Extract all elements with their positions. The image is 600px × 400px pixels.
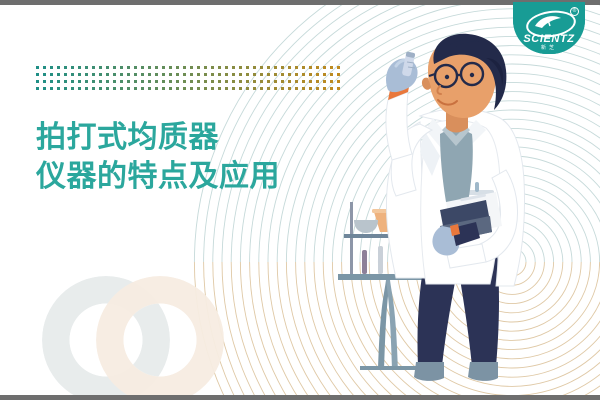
dot xyxy=(57,80,60,83)
dot xyxy=(134,66,137,69)
dot xyxy=(204,80,207,83)
dot xyxy=(183,66,186,69)
dot xyxy=(225,87,228,90)
dot xyxy=(85,87,88,90)
scientist-character xyxy=(386,34,525,381)
dot xyxy=(190,87,193,90)
title-line-1: 拍打式均质器 xyxy=(36,118,280,157)
dot xyxy=(295,73,298,76)
dot xyxy=(295,66,298,69)
dot xyxy=(141,87,144,90)
dot xyxy=(232,80,235,83)
dot xyxy=(176,66,179,69)
dot xyxy=(232,66,235,69)
dot xyxy=(267,66,270,69)
dot xyxy=(92,87,95,90)
dot xyxy=(106,87,109,90)
dot xyxy=(127,87,130,90)
dot-grid-row xyxy=(36,87,344,94)
dot xyxy=(36,80,39,83)
dot xyxy=(190,66,193,69)
dot xyxy=(176,73,179,76)
dot xyxy=(281,80,284,83)
dot xyxy=(239,80,242,83)
dot xyxy=(92,73,95,76)
dot xyxy=(127,80,130,83)
dot xyxy=(211,80,214,83)
dot xyxy=(176,87,179,90)
dot xyxy=(267,73,270,76)
dot xyxy=(106,73,109,76)
dot xyxy=(253,66,256,69)
ring-shape-decoration-warm xyxy=(96,276,224,400)
dot xyxy=(218,80,221,83)
dot xyxy=(155,66,158,69)
inner-shirt xyxy=(440,126,473,202)
dot xyxy=(92,80,95,83)
poster-canvas: 拍打式均质器 仪器的特点及应用 xyxy=(0,0,600,400)
bottom-edge-bar xyxy=(0,395,600,400)
dot xyxy=(169,80,172,83)
dot xyxy=(57,73,60,76)
dot xyxy=(120,87,123,90)
dot xyxy=(253,73,256,76)
dot-grid-decoration xyxy=(36,66,344,94)
dot xyxy=(260,66,263,69)
dot-grid-row xyxy=(36,73,344,80)
dot xyxy=(288,73,291,76)
dot xyxy=(57,66,60,69)
dot xyxy=(225,80,228,83)
page-title: 拍打式均质器 仪器的特点及应用 xyxy=(36,118,280,196)
dot xyxy=(64,66,67,69)
dot xyxy=(204,73,207,76)
dot xyxy=(204,87,207,90)
dot xyxy=(134,80,137,83)
dot xyxy=(43,80,46,83)
dot xyxy=(197,80,200,83)
dot xyxy=(246,80,249,83)
dot xyxy=(288,87,291,90)
logo-swoosh-icon xyxy=(533,13,563,31)
dot xyxy=(176,80,179,83)
dot xyxy=(218,87,221,90)
dot xyxy=(274,80,277,83)
dot xyxy=(148,87,151,90)
dot xyxy=(141,66,144,69)
dot xyxy=(71,80,74,83)
dot xyxy=(281,73,284,76)
dot xyxy=(169,87,172,90)
dot xyxy=(211,73,214,76)
dot xyxy=(162,73,165,76)
dot xyxy=(155,80,158,83)
dot xyxy=(106,80,109,83)
dot xyxy=(78,73,81,76)
dot xyxy=(274,66,277,69)
dot xyxy=(155,73,158,76)
dot xyxy=(204,66,207,69)
dot xyxy=(141,73,144,76)
dot xyxy=(190,73,193,76)
dot xyxy=(295,80,298,83)
dot xyxy=(57,87,60,90)
title-line-2: 仪器的特点及应用 xyxy=(36,157,280,196)
shelf-bowl xyxy=(354,220,378,233)
dot xyxy=(78,80,81,83)
dot xyxy=(253,87,256,90)
registered-trademark-icon: ® xyxy=(570,7,579,16)
dot xyxy=(127,73,130,76)
dot xyxy=(134,87,137,90)
dot xyxy=(99,66,102,69)
dot xyxy=(169,66,172,69)
dot xyxy=(113,66,116,69)
dot xyxy=(162,80,165,83)
dot xyxy=(155,87,158,90)
dot xyxy=(120,80,123,83)
dot xyxy=(218,73,221,76)
dot xyxy=(267,87,270,90)
dot xyxy=(85,73,88,76)
dot xyxy=(113,80,116,83)
dot xyxy=(197,73,200,76)
dot xyxy=(78,87,81,90)
dot xyxy=(99,80,102,83)
dot xyxy=(71,73,74,76)
dot xyxy=(43,66,46,69)
dot xyxy=(246,87,249,90)
dot xyxy=(113,73,116,76)
dot xyxy=(148,66,151,69)
dot xyxy=(183,80,186,83)
dot xyxy=(92,66,95,69)
dot xyxy=(239,87,242,90)
dot xyxy=(162,87,165,90)
dot xyxy=(71,87,74,90)
dot-grid-row xyxy=(36,66,344,73)
dot xyxy=(148,80,151,83)
scientz-logo[interactable]: ® SCIENTZ 新芝 xyxy=(513,2,585,54)
dot xyxy=(120,73,123,76)
dot xyxy=(288,66,291,69)
dot xyxy=(71,66,74,69)
dot xyxy=(295,87,298,90)
dot xyxy=(274,87,277,90)
dot xyxy=(141,80,144,83)
dot xyxy=(85,66,88,69)
dot xyxy=(183,87,186,90)
dot xyxy=(120,66,123,69)
dot xyxy=(36,87,39,90)
dot xyxy=(36,73,39,76)
dot xyxy=(78,66,81,69)
dot xyxy=(36,66,39,69)
dot xyxy=(99,87,102,90)
dot xyxy=(64,87,67,90)
dot xyxy=(43,73,46,76)
dot xyxy=(50,87,53,90)
dot xyxy=(162,66,165,69)
dot xyxy=(134,73,137,76)
scientist-illustration xyxy=(300,30,600,400)
dot xyxy=(232,87,235,90)
dot xyxy=(43,87,46,90)
dot xyxy=(113,87,116,90)
dot-grid-row xyxy=(36,80,344,87)
logo-chinese-mark: 新芝 xyxy=(513,44,585,51)
dot xyxy=(127,66,130,69)
dot xyxy=(99,73,102,76)
dot xyxy=(274,73,277,76)
dot xyxy=(225,73,228,76)
dot xyxy=(64,80,67,83)
dot xyxy=(85,80,88,83)
dot xyxy=(232,73,235,76)
dot xyxy=(106,66,109,69)
dot xyxy=(253,80,256,83)
dot xyxy=(288,80,291,83)
dot xyxy=(218,66,221,69)
dot xyxy=(211,66,214,69)
dot xyxy=(239,66,242,69)
dot xyxy=(260,87,263,90)
dot xyxy=(239,73,242,76)
dot xyxy=(148,73,151,76)
shoes xyxy=(414,362,498,381)
dot xyxy=(64,73,67,76)
dot xyxy=(246,66,249,69)
dot xyxy=(211,87,214,90)
dot xyxy=(260,80,263,83)
dot xyxy=(246,73,249,76)
dot xyxy=(50,80,53,83)
top-edge-bar xyxy=(0,0,600,5)
dot xyxy=(267,80,270,83)
dot xyxy=(281,87,284,90)
dot xyxy=(50,73,53,76)
dot xyxy=(169,73,172,76)
dot xyxy=(197,66,200,69)
dot xyxy=(190,80,193,83)
dot xyxy=(281,66,284,69)
dot xyxy=(225,66,228,69)
dot xyxy=(260,73,263,76)
dot xyxy=(50,66,53,69)
dot xyxy=(183,73,186,76)
dot xyxy=(197,87,200,90)
